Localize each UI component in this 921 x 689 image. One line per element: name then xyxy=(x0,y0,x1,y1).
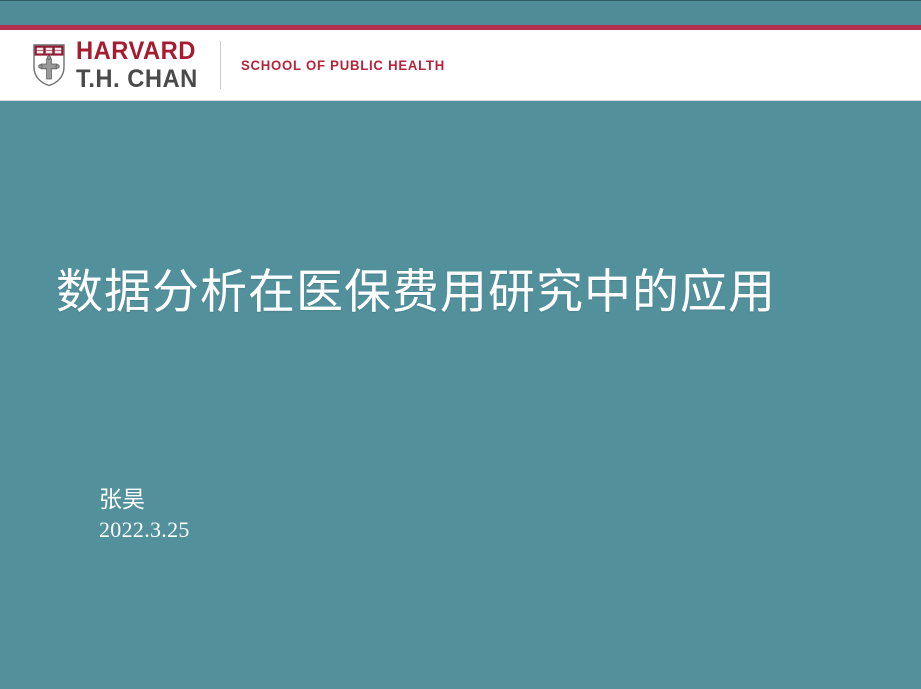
harvard-logo-lockup: HARVARD T.H. CHAN SCHOOL OF PUBLIC HEALT… xyxy=(32,36,458,94)
byline-block: 张昊 2022.3.25 xyxy=(99,484,190,545)
top-teal-strip xyxy=(0,0,921,25)
school-name-label: SCHOOL OF PUBLIC HEALTH xyxy=(241,57,445,73)
slide-header-band: HARVARD T.H. CHAN SCHOOL OF PUBLIC HEALT… xyxy=(0,30,921,101)
wordmark-harvard: HARVARD xyxy=(76,39,198,64)
slide-body: 数据分析在医保费用研究中的应用 张昊 2022.3.25 xyxy=(0,101,921,689)
harvard-wordmark: HARVARD T.H. CHAN xyxy=(76,39,204,92)
logo-divider xyxy=(220,41,221,89)
harvard-shield-icon xyxy=(32,43,66,87)
presentation-title-slide: HARVARD T.H. CHAN SCHOOL OF PUBLIC HEALT… xyxy=(0,0,921,689)
wordmark-th-chan: T.H. CHAN xyxy=(76,67,198,92)
author-name: 张昊 xyxy=(99,484,190,515)
slide-title: 数据分析在医保费用研究中的应用 xyxy=(56,253,776,322)
presentation-date: 2022.3.25 xyxy=(99,515,190,545)
